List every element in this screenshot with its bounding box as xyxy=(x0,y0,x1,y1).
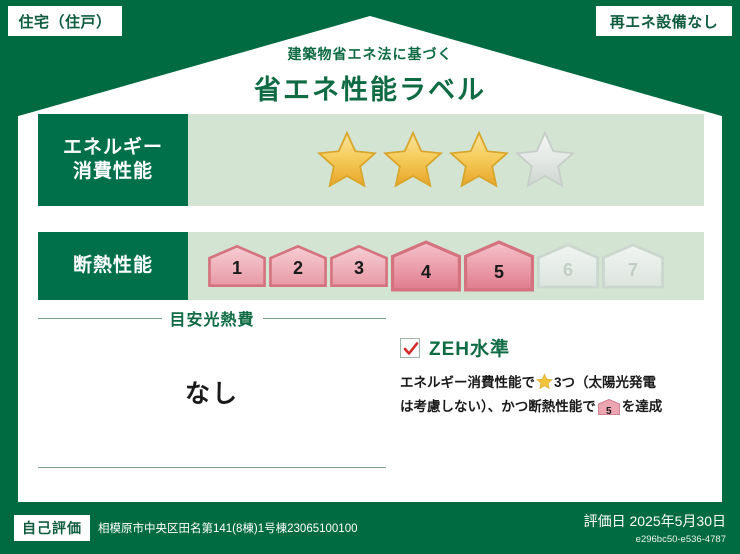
insulation-grade-5: 5 xyxy=(464,240,534,292)
insulation-grade-4: 4 xyxy=(391,240,461,292)
evaluation-type-badge: 自己評価 xyxy=(14,515,90,541)
document-id: e296bc50-e536-4787 xyxy=(584,534,726,545)
house-badge-icon xyxy=(330,245,388,287)
page-title: 建築物省エネ法に基づく 省エネ性能ラベル xyxy=(0,44,740,107)
energy-label-card: 住宅（住戸） 再エネ設備なし 建築物省エネ法に基づく 省エネ性能ラベル エネルギ… xyxy=(0,0,740,554)
building-type-tag: 住宅（住戸） xyxy=(8,6,122,36)
insulation-performance-label: 断熱性能 xyxy=(38,232,188,300)
star-empty-icon xyxy=(514,129,576,191)
insulation-grade-scale: 1234567 xyxy=(188,232,704,300)
zeh-title: ZEH水準 xyxy=(429,334,510,361)
star-filled-icon xyxy=(316,129,378,191)
utility-cost-heading: 目安光熱費 xyxy=(38,306,386,330)
evaluation-date: 評価日 2025年5月30日 xyxy=(584,511,726,531)
zeh-heading: ZEH水準 xyxy=(400,334,704,361)
zeh-checkbox[interactable] xyxy=(400,338,420,358)
energy-performance-row: エネルギー 消費性能 xyxy=(38,114,704,206)
lower-section: 目安光熱費 なし ZEH水準 エネルギー消費性能で 3つ（太陽光発電 は考 xyxy=(38,306,704,482)
utility-cost-bottom-rule xyxy=(38,467,386,468)
energy-label-line2: 消費性能 xyxy=(73,160,153,184)
star-filled-icon xyxy=(382,129,444,191)
insulation-label-text: 断熱性能 xyxy=(73,254,153,278)
utility-cost-value: なし xyxy=(38,374,386,410)
energy-label-line1: エネルギー xyxy=(63,136,163,160)
house-badge-icon xyxy=(391,240,461,292)
house-badge-icon xyxy=(464,240,534,292)
renewable-energy-tag: 再エネ設備なし xyxy=(596,6,732,36)
zeh-desc-part3: を達成 xyxy=(622,399,663,414)
zeh-desc-part2: は考慮しない）、かつ断熱性能で xyxy=(400,399,596,414)
house-badge-icon xyxy=(208,245,266,287)
insulation-grade-6: 6 xyxy=(537,242,599,290)
house-badge-icon xyxy=(269,245,327,287)
inline-grade-value: 5 xyxy=(598,403,620,421)
insulation-performance-row: 断熱性能 1234567 xyxy=(38,232,704,300)
zeh-description: エネルギー消費性能で 3つ（太陽光発電 は考慮しない）、かつ断熱性能で 5 を達… xyxy=(400,371,704,422)
insulation-grade-1: 1 xyxy=(208,245,266,287)
insulation-grade-2: 2 xyxy=(269,245,327,287)
property-address: 相模原市中央区田名第141(8棟)1号棟23065100100 xyxy=(98,520,358,536)
utility-cost-heading-text: 目安光熱費 xyxy=(170,306,255,330)
zeh-panel: ZEH水準 エネルギー消費性能で 3つ（太陽光発電 は考慮しない）、かつ断熱性能… xyxy=(400,334,704,422)
heading-rule-left xyxy=(38,318,162,319)
zeh-desc-part1: エネルギー消費性能で xyxy=(400,375,535,390)
inline-grade-badge: 5 xyxy=(598,399,620,423)
insulation-grade-7: 7 xyxy=(602,242,664,290)
title-main: 省エネ性能ラベル xyxy=(0,68,740,107)
footer-bar: 自己評価 相模原市中央区田名第141(8棟)1号棟23065100100 評価日… xyxy=(0,502,740,554)
insulation-grade-3: 3 xyxy=(330,245,388,287)
house-badge-icon xyxy=(602,242,664,290)
star-filled-icon xyxy=(448,129,510,191)
star-rating xyxy=(188,114,704,206)
title-subtitle: 建築物省エネ法に基づく xyxy=(0,44,740,64)
utility-cost-panel: 目安光熱費 なし xyxy=(38,306,386,482)
heading-rule-right xyxy=(263,318,387,319)
house-badge-icon xyxy=(537,242,599,290)
footer-right-info: 評価日 2025年5月30日 e296bc50-e536-4787 xyxy=(584,511,726,545)
check-icon xyxy=(403,341,419,357)
zeh-desc-star-count: 3つ（太陽光発電 xyxy=(554,375,656,390)
energy-performance-label: エネルギー 消費性能 xyxy=(38,114,188,206)
inline-star-icon xyxy=(536,373,553,390)
